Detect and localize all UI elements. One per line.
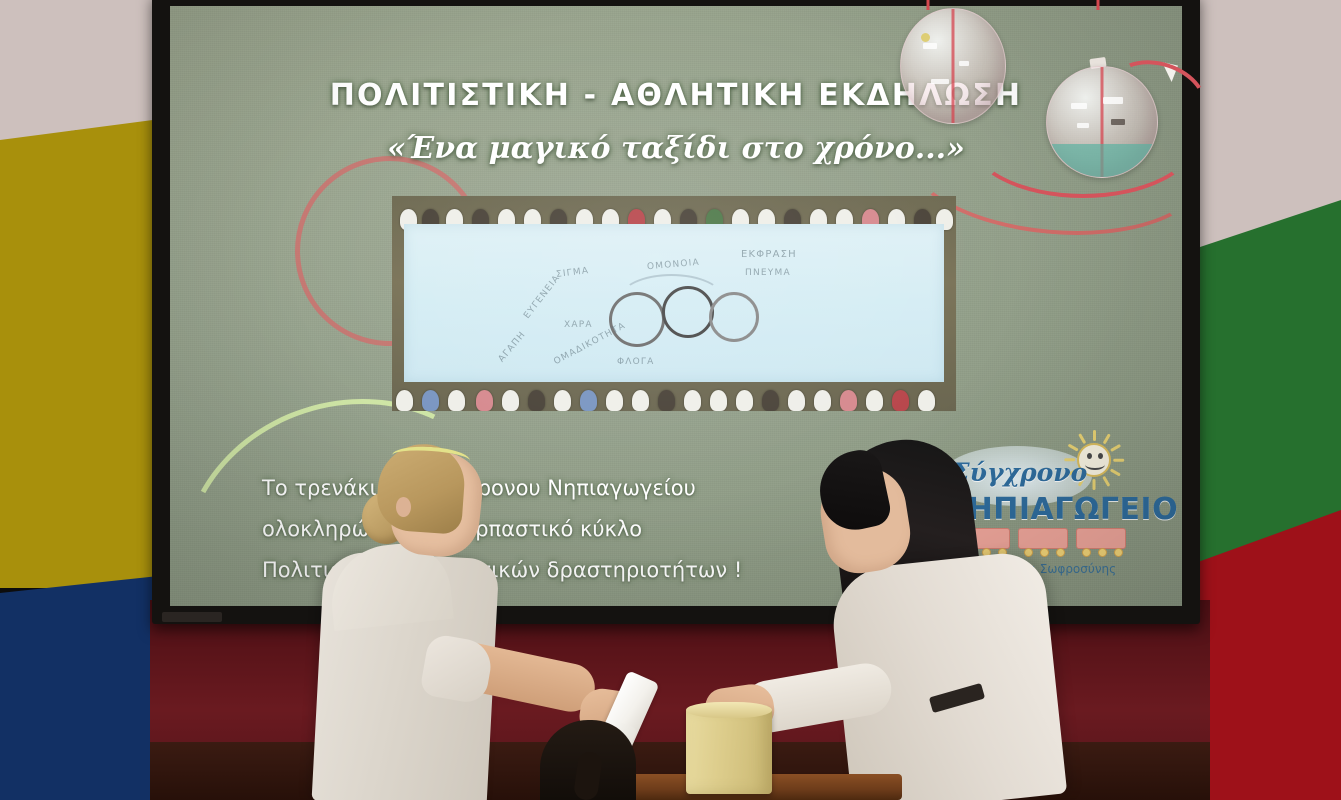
child-figure bbox=[788, 390, 805, 411]
logo-word-top: Σύγχρονο bbox=[952, 458, 1087, 487]
child-figure bbox=[476, 390, 493, 411]
child-figure bbox=[866, 390, 883, 411]
left-wall-yellow-band bbox=[0, 118, 168, 588]
embedded-photo-children: ΣΙΓΜΑ ΟΜΟΝΟΙΑ ΕΚΦΡΑΣΗ ΠΝΕΥΜΑ ΕΥΓΕΝΕΙΑ ΧΑ… bbox=[392, 196, 956, 411]
ornament-green-fill bbox=[1047, 144, 1157, 177]
child-figure bbox=[762, 390, 779, 411]
child-figure bbox=[502, 390, 519, 411]
child-figure bbox=[684, 390, 701, 411]
whiteboard-ring-right bbox=[709, 292, 759, 342]
child-figure bbox=[422, 390, 439, 411]
ornament-seam bbox=[952, 9, 955, 123]
child-figure bbox=[396, 390, 413, 411]
cauldron-rim bbox=[686, 702, 772, 718]
ornament-ribbon bbox=[1097, 0, 1100, 10]
whiteboard-label: ΑΓΑΠΗ bbox=[497, 330, 528, 365]
child-figure bbox=[606, 390, 623, 411]
child-figure bbox=[892, 390, 909, 411]
child-figure bbox=[580, 390, 597, 411]
logo-word-main: ΝΗΠΙΑΓΩΓΕΙΟ bbox=[942, 492, 1178, 527]
child-figure bbox=[448, 390, 465, 411]
olympic-cauldron bbox=[686, 706, 772, 794]
whiteboard-label: ΠΝΕΥΜΑ bbox=[745, 268, 791, 278]
whiteboard-ring-center bbox=[662, 286, 714, 338]
photo-scene: ΠΟΛΙΤΙΣΤΙΚΗ - ΑΘΛΗΤΙΚΗ ΕΚΔΗΛΩΣΗ «Ένα μαγ… bbox=[0, 0, 1341, 800]
child-figure bbox=[736, 390, 753, 411]
whiteboard-label: ΦΛΟΓΑ bbox=[617, 357, 655, 367]
child-figure bbox=[554, 390, 571, 411]
whiteboard-diagram: ΣΙΓΜΑ ΟΜΟΝΟΙΑ ΕΚΦΡΑΣΗ ΠΝΕΥΜΑ ΕΥΓΕΝΕΙΑ ΧΑ… bbox=[404, 224, 944, 382]
child-figure bbox=[710, 390, 727, 411]
child-figure bbox=[814, 390, 831, 411]
presenter-left-ear bbox=[396, 497, 411, 517]
whiteboard-label: ΕΥΓΕΝΕΙΑ bbox=[522, 273, 562, 321]
ornament-ribbon bbox=[927, 0, 930, 10]
right-wall-green-band bbox=[1176, 200, 1341, 570]
child-figure bbox=[528, 390, 545, 411]
left-wall-upper bbox=[0, 0, 168, 130]
whiteboard-label: ΟΜΟΝΟΙΑ bbox=[647, 258, 701, 273]
child-figure bbox=[658, 390, 675, 411]
child-figure bbox=[632, 390, 649, 411]
children-row-bottom bbox=[392, 377, 956, 411]
child-figure bbox=[918, 390, 935, 411]
whiteboard-label: ΕΚΦΡΑΣΗ bbox=[741, 249, 797, 260]
child-figure bbox=[840, 390, 857, 411]
left-wall-blue-band bbox=[0, 575, 168, 800]
whiteboard-ring-left bbox=[609, 292, 665, 347]
train-icon bbox=[960, 528, 1135, 558]
whiteboard-label: ΧΑΡΑ bbox=[564, 320, 593, 330]
